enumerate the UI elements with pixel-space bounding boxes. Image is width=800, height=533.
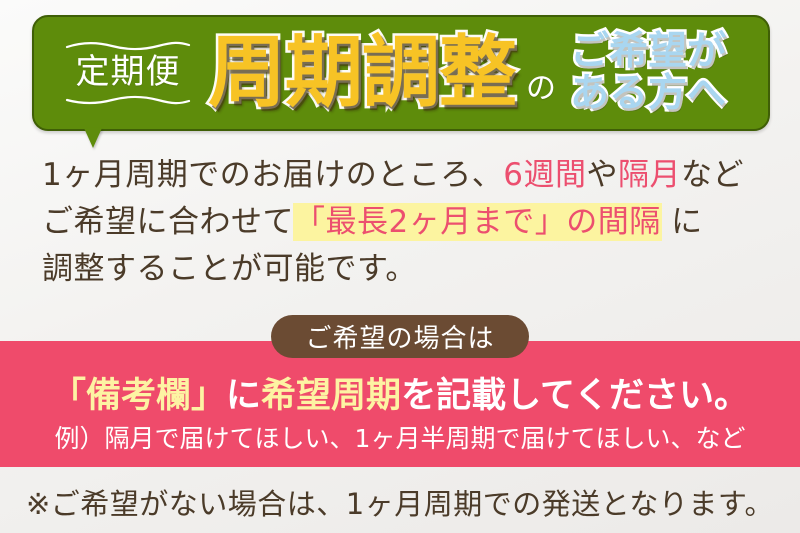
header-title: 周期調整 <box>208 34 516 112</box>
header-particle: の <box>526 63 556 107</box>
instruction-main-text: 「備考欄」に希望周期を記載してください。 <box>0 367 800 418</box>
header-subtitle-block: ご希望が ある方へ <box>570 31 726 115</box>
body-l2-p2: に <box>661 204 703 240</box>
body-l2-marked-text: 「最長2ヶ月まで」の間隔 <box>294 204 661 240</box>
instruction-p2: に <box>226 376 261 416</box>
promo-banner: 定期便 周期調整 の ご希望が ある方へ 1ヶ月周期でのお届けのところ、6週間や… <box>0 0 800 533</box>
instruction-cycle-term: 希望周期 <box>261 376 401 416</box>
instruction-field-name: 「備考欄」 <box>51 376 226 416</box>
body-l1-p2: や <box>586 157 618 193</box>
body-l1-p1: 1ヶ月周期でのお届けのところ、 <box>42 157 503 193</box>
speech-bubble-tail <box>84 128 102 148</box>
body-l1-highlight-1: 6週間 <box>503 157 586 193</box>
body-l3-text: 調整することが可能です。 <box>42 251 417 287</box>
wave-line-top-icon <box>66 41 190 50</box>
instruction-p4: を記載してください。 <box>401 376 749 416</box>
body-l1-highlight-2: 隔月 <box>618 157 681 193</box>
footer-note: ※ご希望がない場合は、1ヶ月周期での発送となります。 <box>0 481 800 523</box>
body-l1-p3: など <box>681 157 744 193</box>
header-subtitle-line2: ある方へ <box>570 73 726 115</box>
body-l2-p1: ご希望に合わせて <box>42 204 294 240</box>
instruction-band: 「備考欄」に希望周期を記載してください。 例）隔月で届けてほしい、1ヶ月半周期で… <box>0 341 800 467</box>
header-speech-bubble: 定期便 周期調整 の ご希望が ある方へ <box>32 15 770 131</box>
body-line-2: ご希望に合わせて「最長2ヶ月まで」の間隔 に <box>42 199 768 246</box>
request-case-pill-label: ご希望の場合は <box>305 318 494 355</box>
header-subtitle-line1: ご希望が <box>570 31 726 73</box>
header-row: 定期便 周期調整 の ご希望が ある方へ <box>34 17 772 129</box>
subscription-badge: 定期便 <box>60 41 196 105</box>
subscription-badge-label: 定期便 <box>76 55 181 91</box>
body-line-1: 1ヶ月周期でのお届けのところ、6週間や隔月など <box>42 152 768 199</box>
body-paragraph: 1ヶ月周期でのお届けのところ、6週間や隔月など ご希望に合わせて「最長2ヶ月まで… <box>42 152 768 293</box>
request-case-pill: ご希望の場合は <box>271 315 529 358</box>
wave-line-bottom-icon <box>66 96 190 105</box>
instruction-example-text: 例）隔月で届けてほしい、1ヶ月半周期で届けてほしい、など <box>0 419 800 455</box>
body-line-3: 調整することが可能です。 <box>42 246 768 293</box>
